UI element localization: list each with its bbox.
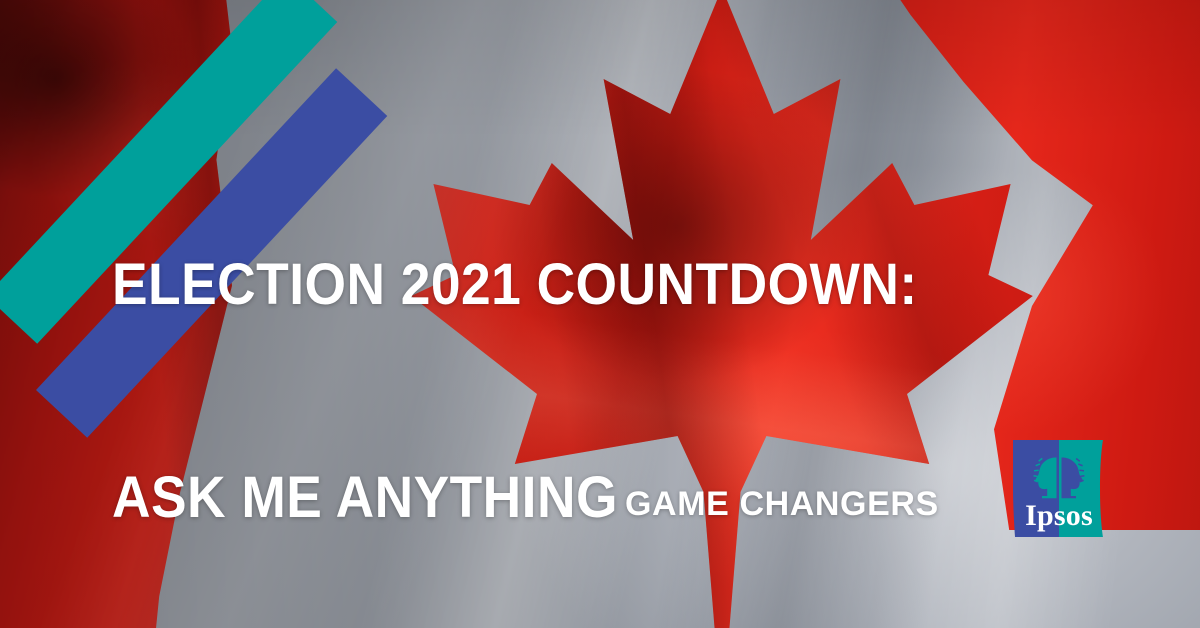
page-title: ELECTION 2021 COUNTDOWN: ASK ME ANYTHING	[112, 107, 918, 628]
tagline-game-changers: GAME CHANGERS	[625, 485, 939, 523]
ipsos-wordmark: Ipsos	[1025, 499, 1093, 532]
ipsos-logo: Ipsos	[1012, 439, 1106, 538]
headline-line-1: ELECTION 2021 COUNTDOWN:	[112, 249, 918, 320]
promo-banner: ELECTION 2021 COUNTDOWN: ASK ME ANYTHING…	[0, 0, 1200, 628]
